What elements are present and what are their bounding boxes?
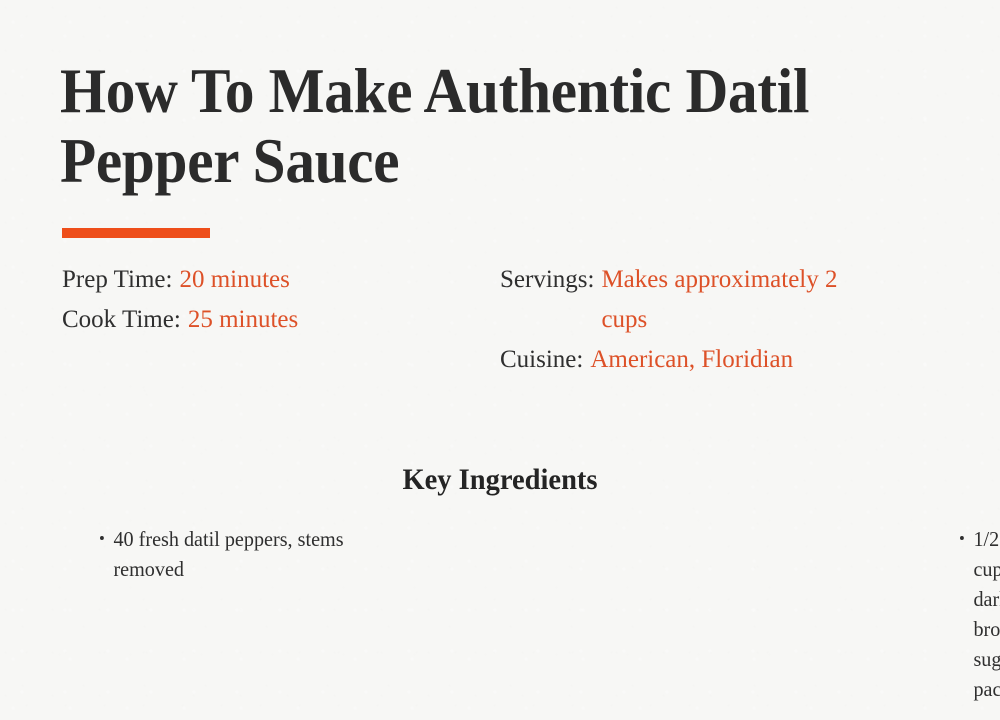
ingredient-text: 1/2 cup dark brown sugar, packed (973, 527, 1000, 701)
ingredients-list: 40 fresh datil peppers, stems removed 1/… (0, 524, 1000, 704)
meta-column-yield: Servings: Makes approximately 2 cups Cui… (500, 260, 960, 380)
cook-time-value: 25 minutes (188, 300, 298, 340)
cuisine-label: Cuisine: (500, 340, 590, 380)
bullet-icon (100, 536, 104, 540)
meta-row-prep-time: Prep Time: 20 minutes (62, 260, 482, 300)
recipe-card: How To Make Authentic Datil Pepper Sauce… (0, 0, 1000, 720)
meta-row-servings: Servings: Makes approximately 2 cups (500, 260, 960, 340)
ingredients-heading: Key Ingredients (25, 462, 975, 498)
meta-column-times: Prep Time: 20 minutes Cook Time: 25 minu… (62, 260, 482, 340)
accent-divider (62, 228, 210, 238)
ingredient-text: 40 fresh datil peppers, stems removed (113, 527, 343, 581)
servings-label: Servings: (500, 260, 601, 300)
ingredients-column-left: 40 fresh datil peppers, stems removed (0, 524, 430, 704)
ingredients-column-right: 1/2 cup dark brown sugar, packed (430, 524, 960, 704)
cuisine-value: American, Floridian (590, 340, 870, 380)
servings-value: Makes approximately 2 cups (601, 260, 881, 340)
cook-time-label: Cook Time: (62, 300, 188, 340)
meta-row-cuisine: Cuisine: American, Floridian (500, 340, 960, 380)
prep-time-label: Prep Time: (62, 260, 179, 300)
list-item: 40 fresh datil peppers, stems removed (100, 524, 417, 584)
recipe-meta: Prep Time: 20 minutes Cook Time: 25 minu… (0, 260, 1000, 420)
bullet-icon (960, 536, 964, 540)
list-item: 1/2 cup dark brown sugar, packed (960, 524, 973, 704)
page-title: How To Make Authentic Datil Pepper Sauce (60, 56, 897, 196)
meta-row-cook-time: Cook Time: 25 minutes (62, 300, 482, 340)
prep-time-value: 20 minutes (179, 260, 289, 300)
